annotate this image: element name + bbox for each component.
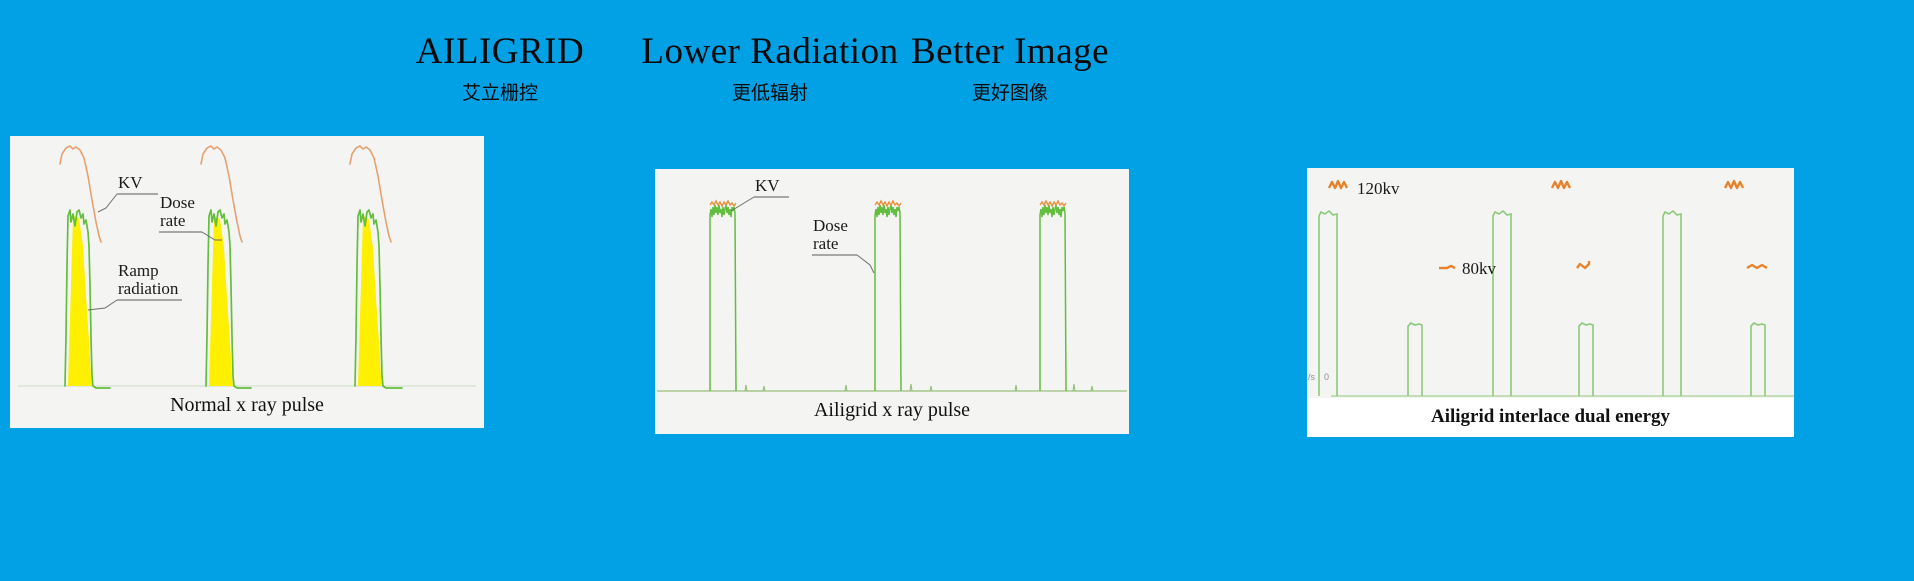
dose-rate-trace-group — [710, 205, 1066, 391]
annotation-dose-rate: Dose rate — [812, 216, 874, 273]
legend-label-120kv: 120kv — [1357, 179, 1400, 198]
annotation-kv-leader — [731, 197, 754, 211]
annotation-kv: KV — [98, 173, 158, 212]
kv-marker-120kv — [1329, 181, 1347, 188]
baseline-ripple — [910, 384, 932, 391]
annotation-ramp-leader — [88, 300, 117, 310]
kv-trace — [710, 201, 736, 206]
baseline-ripple — [1073, 384, 1093, 391]
annotation-dose-rate-label-2: rate — [813, 234, 838, 253]
chart-panel-ailigrid-x-ray-pulse: KV Dose rate Ailigrid x ray pulse — [655, 169, 1129, 434]
baseline-ripple — [745, 385, 765, 391]
annotation-kv-label: KV — [118, 173, 143, 192]
panel-caption-ailigrid: Ailigrid x ray pulse — [655, 399, 1129, 422]
header-group-ailigrid: AILIGRID 艾立栅控 — [350, 30, 650, 106]
normal-pulse-plot: KV Dose rate Ramp radiation — [10, 136, 484, 428]
dose-rate-pulse — [1040, 205, 1066, 391]
kv-trace — [201, 146, 242, 242]
kv-marker-80kv — [1577, 261, 1589, 268]
axis-unit-label: /s — [1308, 372, 1316, 382]
kv-trace-group — [60, 146, 391, 242]
header-title-en-0: AILIGRID — [350, 30, 650, 74]
tall-pulse-group — [1319, 211, 1681, 396]
short-pulse-80kv — [1408, 323, 1422, 396]
header-title-en-2: Better Image — [860, 30, 1160, 74]
ailigrid-pulse-plot: KV Dose rate — [655, 169, 1129, 434]
annotation-dose-rate-label-1: Dose — [813, 216, 848, 235]
chart-panel-normal-x-ray-pulse: KV Dose rate Ramp radiation Normal x ray… — [10, 136, 484, 428]
header-banner: AILIGRID 艾立栅控 Lower Radiation 更低辐射 Bette… — [0, 0, 1914, 136]
kv-marker-80kv — [1747, 265, 1767, 268]
tall-pulse-120kv — [1663, 211, 1681, 396]
baseline-ripple — [1015, 385, 1017, 391]
short-pulse-80kv — [1579, 323, 1593, 396]
dual-energy-plot: 120kv 80kv /s 0 — [1307, 168, 1794, 437]
annotation-ramp-radiation: Ramp radiation — [88, 261, 182, 310]
kv-marker-120kv — [1552, 181, 1570, 188]
legend-label-80kv: 80kv — [1462, 259, 1497, 278]
header-title-zh-0: 艾立栅控 — [350, 80, 650, 106]
kv-trace — [350, 146, 391, 242]
header-group-better-image: Better Image 更好图像 — [860, 30, 1160, 106]
tall-pulse-120kv — [1319, 211, 1337, 396]
short-pulse-group — [1408, 323, 1765, 396]
kv-trace — [1040, 201, 1066, 206]
axis-zero-label: 0 — [1324, 372, 1329, 382]
short-pulse-80kv — [1751, 323, 1765, 396]
annotation-ramp-label-1: Ramp — [118, 261, 159, 280]
annotation-kv-label: KV — [755, 176, 780, 195]
dose-rate-pulse — [710, 205, 736, 391]
header-title-zh-2: 更好图像 — [860, 80, 1160, 106]
baseline-ripple-group — [745, 384, 1093, 391]
kv-trace — [875, 201, 901, 206]
annotation-dose-rate-label-2: rate — [160, 211, 185, 230]
annotation-dose-rate-label-1: Dose — [160, 193, 195, 212]
baseline-ripple — [845, 385, 847, 391]
annotation-kv: KV — [731, 176, 789, 211]
kv-trace-group — [710, 201, 1066, 206]
kv-marker-120kv — [1725, 181, 1743, 188]
kv-trace — [60, 146, 101, 242]
dose-rate-pulse — [875, 205, 901, 391]
annotation-ramp-label-2: radiation — [118, 279, 179, 298]
panel-caption-normal: Normal x ray pulse — [10, 394, 484, 417]
tall-pulse-120kv — [1493, 211, 1511, 396]
dose-rate-trace-group — [65, 210, 402, 388]
panel-caption-dual-energy: Ailigrid interlace dual energy — [1307, 406, 1794, 428]
annotation-kv-leader — [98, 194, 117, 212]
kv-marker-80kv — [1439, 266, 1455, 268]
chart-panel-dual-energy: 120kv 80kv /s 0 Ailigrid interlace dual … — [1307, 168, 1794, 437]
annotation-dose-rate-leader — [857, 255, 874, 273]
